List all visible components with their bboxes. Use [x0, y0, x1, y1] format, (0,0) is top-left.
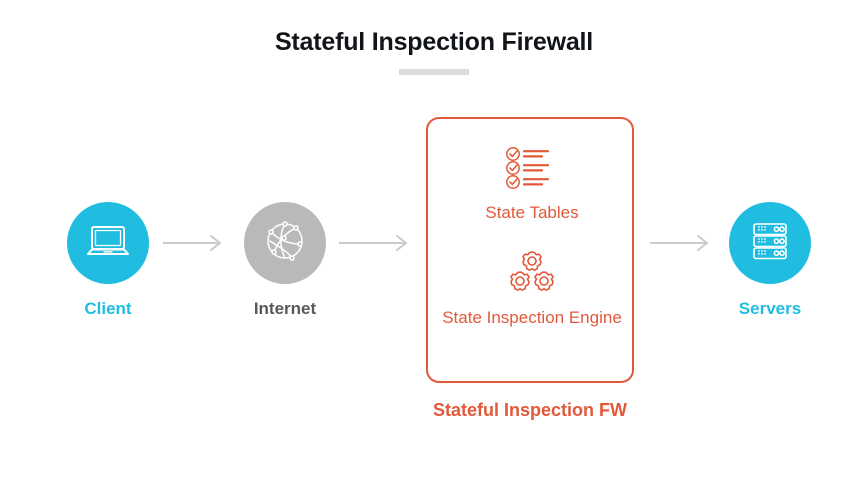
node-servers-label: Servers [710, 300, 830, 317]
globe-network-icon [262, 218, 308, 269]
node-internet-circle [244, 202, 326, 284]
firewall-caption: Stateful Inspection FW [426, 400, 634, 421]
laptop-icon [85, 221, 131, 266]
node-internet-label: Internet [225, 300, 345, 317]
firewall-box[interactable]: State Tables State Inspection Engine [426, 117, 634, 383]
firewall-item-inspection-engine-label: State Inspection Engine [428, 307, 636, 329]
node-client-label: Client [48, 300, 168, 317]
title-underline-rule [399, 69, 469, 75]
arrow-firewall-to-servers [650, 233, 712, 253]
firewall-item-inspection-engine[interactable]: State Inspection Engine [428, 249, 636, 329]
gears-icon [428, 249, 636, 297]
node-internet[interactable]: Internet [225, 202, 345, 317]
node-client-circle [67, 202, 149, 284]
arrow-client-to-internet [163, 233, 225, 253]
firewall-item-state-tables-label: State Tables [428, 202, 636, 224]
node-servers[interactable]: Servers [710, 202, 830, 317]
page-title: Stateful Inspection Firewall [0, 28, 868, 57]
firewall-item-state-tables[interactable]: State Tables [428, 144, 636, 224]
node-client[interactable]: Client [48, 202, 168, 317]
arrow-internet-to-firewall [339, 233, 411, 253]
server-rack-icon [747, 219, 793, 268]
node-servers-circle [729, 202, 811, 284]
checklist-icon [428, 144, 636, 192]
